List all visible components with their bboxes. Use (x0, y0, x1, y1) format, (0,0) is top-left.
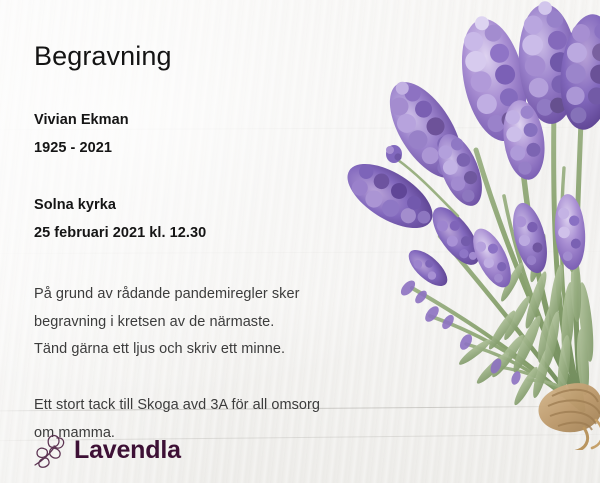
message-line: Ett stort tack till Skoga avd 3A för all… (34, 392, 394, 420)
ceremony-place: Solna kyrka (34, 191, 394, 219)
message-line: begravning i kretsen av de närmaste. (34, 309, 394, 337)
lavendla-wordmark: Lavendla (74, 438, 181, 463)
deceased-block: Vivian Ekman 1925 - 2021 (34, 72, 394, 163)
card-content: Begravning Vivian Ekman 1925 - 2021 Soln… (34, 0, 394, 448)
message-line: På grund av rådande pandemiregler sker (34, 281, 394, 309)
page-title: Begravning (34, 0, 394, 72)
memorial-card: Begravning Vivian Ekman 1925 - 2021 Soln… (0, 0, 600, 483)
lavendla-logo[interactable]: Lavendla (31, 431, 181, 469)
message-paragraph-1: På grund av rådande pandemiregler sker b… (34, 248, 394, 364)
message-line: Tänd gärna ett ljus och skriv ett minne. (34, 336, 394, 364)
deceased-years: 1925 - 2021 (34, 134, 394, 162)
lavender-sprig-icon (31, 431, 67, 469)
ceremony-datetime: 25 februari 2021 kl. 12.30 (34, 219, 394, 247)
deceased-name: Vivian Ekman (34, 106, 394, 134)
ceremony-block: Solna kyrka 25 februari 2021 kl. 12.30 (34, 162, 394, 248)
